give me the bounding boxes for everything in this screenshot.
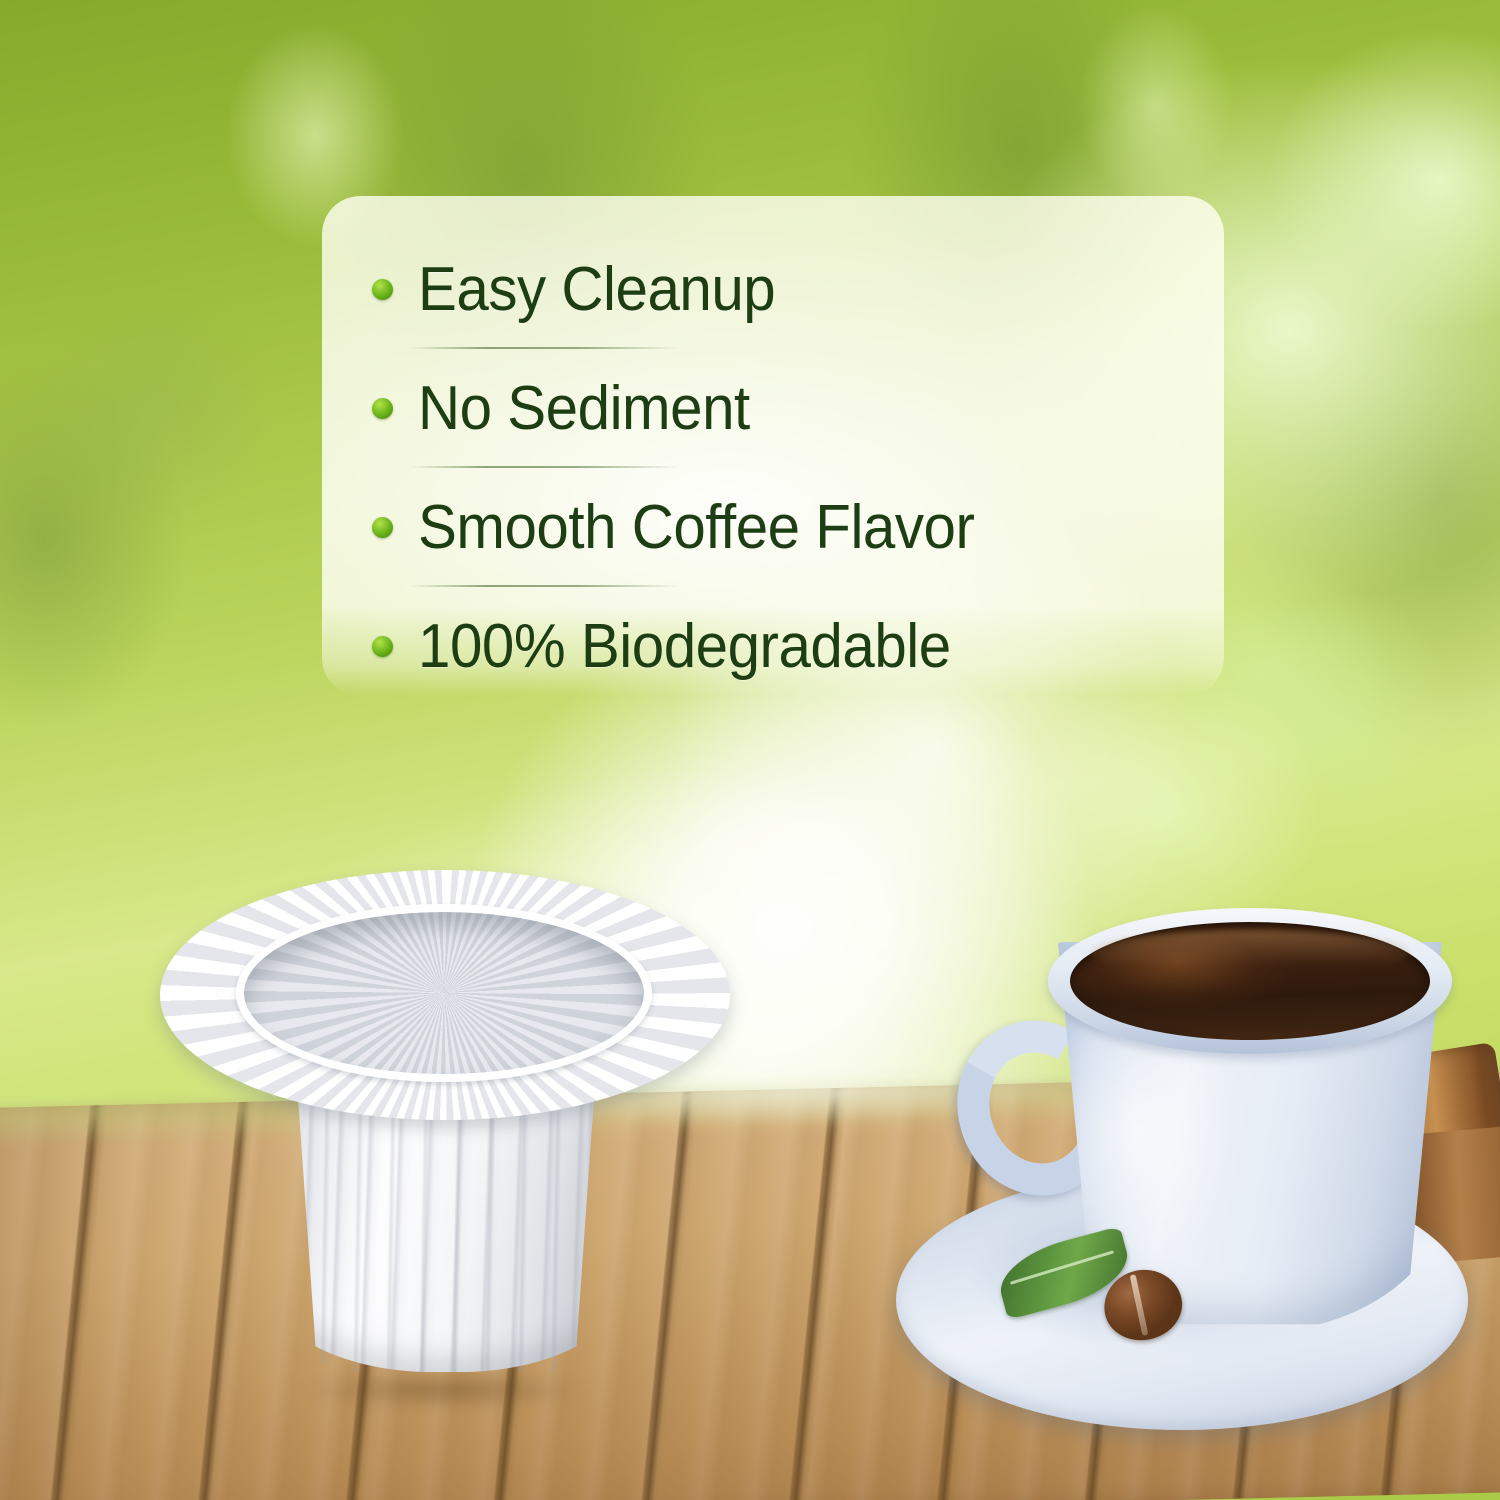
coffee-cup-group: [880, 880, 1500, 1500]
list-item: 100% Biodegradable: [322, 587, 1224, 706]
list-item: Easy Cleanup: [322, 230, 1224, 349]
coffee-surface-highlight: [1090, 930, 1410, 976]
feature-label: Smooth Coffee Flavor: [418, 497, 974, 559]
green-dot-icon: [372, 517, 393, 538]
paper-coffee-filter-cup: [126, 860, 756, 1420]
feature-list: Easy Cleanup No Sediment Smooth Coffee F…: [322, 196, 1224, 696]
product-feature-image: Easy Cleanup No Sediment Smooth Coffee F…: [0, 0, 1500, 1500]
feature-label: No Sediment: [418, 378, 750, 440]
filter-rim-edge: [236, 904, 652, 1082]
green-dot-icon: [372, 636, 393, 657]
green-dot-icon: [372, 279, 393, 300]
green-dot-icon: [372, 398, 393, 419]
filter-shadow: [244, 1366, 644, 1414]
list-item: No Sediment: [322, 349, 1224, 468]
list-item: Smooth Coffee Flavor: [322, 468, 1224, 587]
feature-label: 100% Biodegradable: [418, 616, 951, 678]
feature-label: Easy Cleanup: [418, 259, 775, 321]
